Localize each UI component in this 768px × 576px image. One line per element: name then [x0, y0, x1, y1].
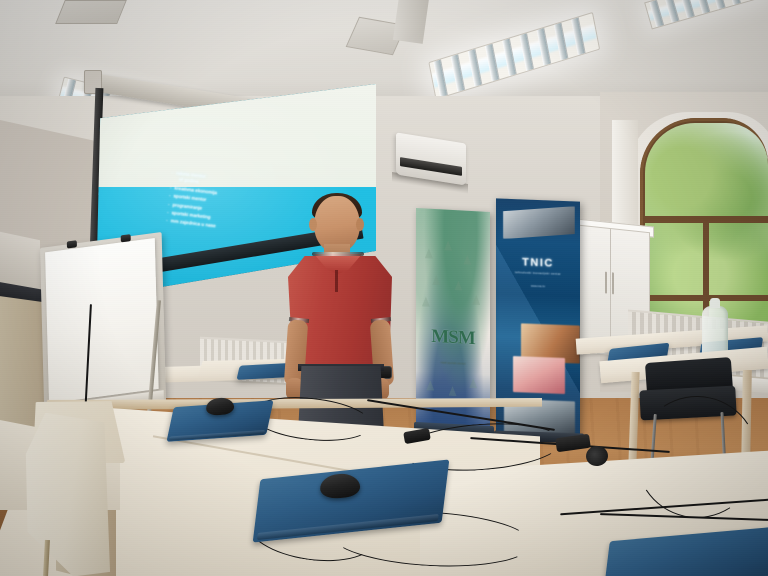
collar-stripe [312, 252, 364, 256]
banner-photo [503, 203, 575, 241]
msm-logo-subtitle: mladi sportski mentori [423, 360, 482, 366]
ceiling-vent-icon [55, 0, 127, 24]
banner-photo [513, 356, 565, 394]
flipchart-clip[interactable] [67, 240, 77, 248]
msm-logo-text: MSM [431, 325, 474, 349]
banner-tagline: tehnoloski inovacijski centar [508, 270, 568, 276]
msm-logo: MSM [424, 314, 482, 361]
banner-wordmark: TNIC [508, 256, 568, 270]
banner-url: www.tnic.hr [508, 283, 568, 289]
flipchart [40, 232, 166, 418]
ear [356, 218, 364, 231]
bottle-cap [710, 298, 720, 308]
photo-scene: - raketa mentor of godina - kreativna ek… [0, 0, 768, 576]
cabinet-handle[interactable] [612, 272, 614, 294]
cabinet-handle[interactable] [605, 271, 607, 293]
banner-logo: TNIC tehnoloski inovacijski centar www.t… [508, 256, 568, 289]
ac-vent-icon [400, 157, 462, 175]
shirt-placket [335, 270, 338, 292]
flipchart-paper [45, 238, 158, 404]
ear [309, 218, 317, 231]
